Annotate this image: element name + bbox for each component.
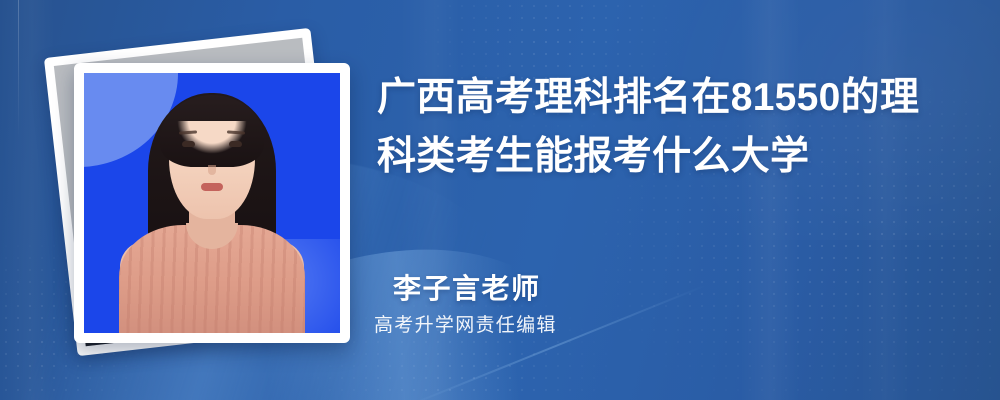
article-headline: 广西高考理科排名在81550的理科类考生能报考什么大学 (377, 68, 953, 187)
background-accent-line (18, 0, 19, 140)
author-photo (84, 73, 340, 333)
cover-content: 广西高考理科排名在81550的理科类考生能报考什么大学 李子言老师 高考升学网责… (374, 0, 974, 400)
author-name: 李子言老师 (393, 272, 933, 305)
portrait-eye-left (182, 141, 195, 147)
author-byline: 李子言老师 高考升学网责任编辑 (393, 272, 933, 338)
photo-card-stack (38, 30, 348, 360)
photo-card-front (74, 63, 350, 343)
author-role: 高考升学网责任编辑 (374, 315, 933, 338)
portrait-nose (208, 165, 216, 175)
portrait-illustration (84, 73, 340, 333)
article-cover-banner: 广西高考理科排名在81550的理科类考生能报考什么大学 李子言老师 高考升学网责… (0, 0, 1000, 400)
portrait-mouth (201, 183, 223, 191)
portrait-dress (119, 225, 305, 333)
portrait-eye-right (229, 141, 242, 147)
